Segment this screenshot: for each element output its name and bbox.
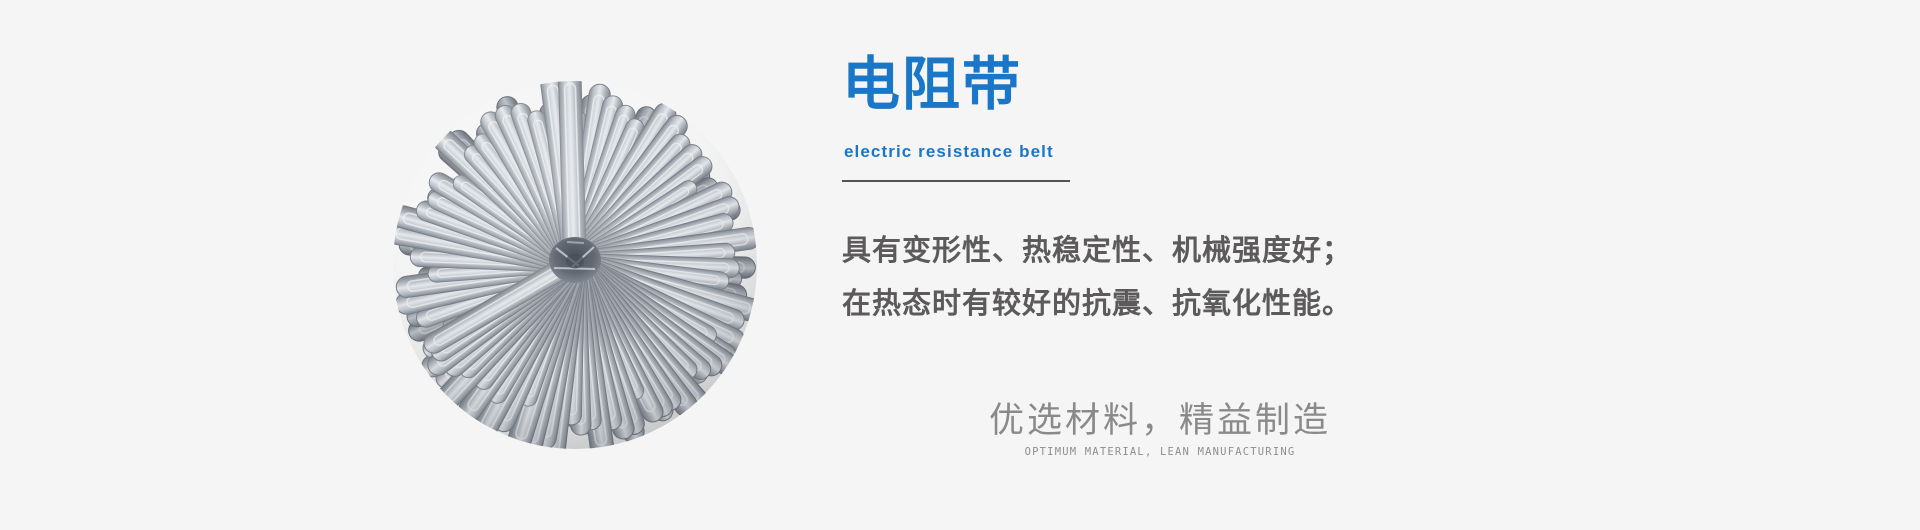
slogan-block: 优选材料，精益制造 OPTIMUM MATERIAL, LEAN MANUFAC… — [950, 398, 1370, 459]
slogan-english: OPTIMUM MATERIAL, LEAN MANUFACTURING — [950, 445, 1370, 459]
text-column: 电阻带 electric resistance belt 具有变形性、热稳定性、… — [842, 0, 1662, 530]
title-divider — [842, 180, 1070, 182]
page-title: 电阻带 — [842, 52, 1022, 118]
product-image — [355, 55, 795, 475]
description-line-1: 具有变形性、热稳定性、机械强度好； — [842, 225, 1482, 278]
slogan-chinese: 优选材料，精益制造 — [950, 398, 1370, 444]
description-line-2: 在热态时有较好的抗震、抗氧化性能。 — [842, 278, 1482, 331]
page-subtitle-english: electric resistance belt — [844, 142, 1054, 162]
product-description: 具有变形性、热稳定性、机械强度好； 在热态时有较好的抗震、抗氧化性能。 — [842, 225, 1482, 331]
product-banner: 电阻带 electric resistance belt 具有变形性、热稳定性、… — [0, 0, 1920, 530]
